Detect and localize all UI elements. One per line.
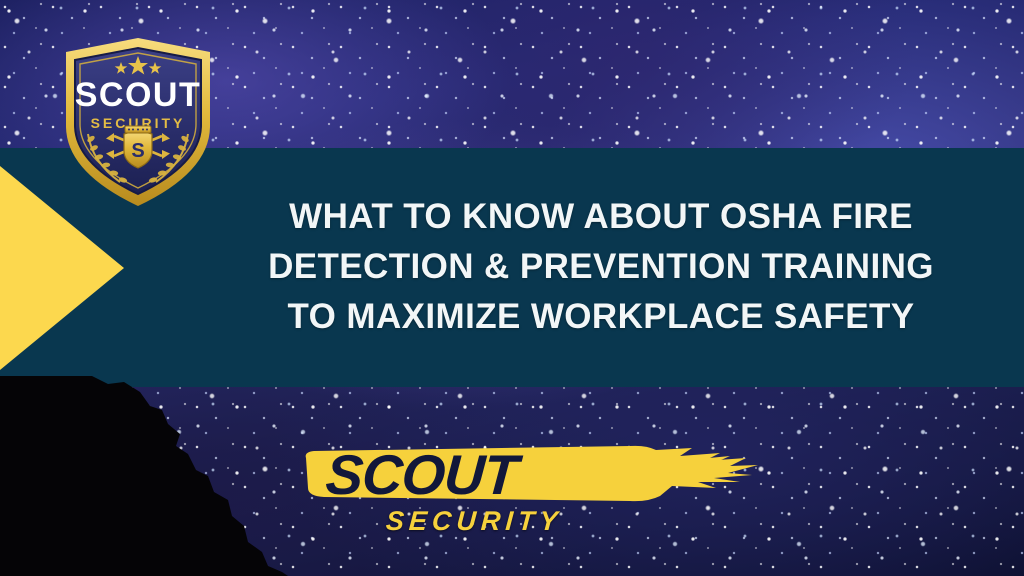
page-title: WHAT TO KNOW ABOUT OSHA FIRE DETECTION &… (232, 192, 970, 342)
banner-image: WHAT TO KNOW ABOUT OSHA FIRE DETECTION &… (0, 0, 1024, 576)
badge-crest-letter: S (131, 140, 144, 162)
page-title-line-2: DETECTION & PREVENTION TRAINING (232, 242, 970, 292)
page-title-line-3: TO MAXIMIZE WORKPLACE SAFETY (232, 292, 970, 342)
page-title-line-1: WHAT TO KNOW ABOUT OSHA FIRE (232, 192, 970, 242)
badge-primary-text: SCOUT (75, 76, 202, 114)
brush-logo-subtext: SECURITY (385, 506, 707, 536)
cliff-silhouette (0, 376, 330, 576)
brush-logo-word: SCOUT (324, 446, 708, 504)
scout-security-shield-badge: SCOUT SECURITY (58, 34, 218, 210)
scout-security-brush-logo: SCOUT SECURITY (300, 440, 760, 550)
